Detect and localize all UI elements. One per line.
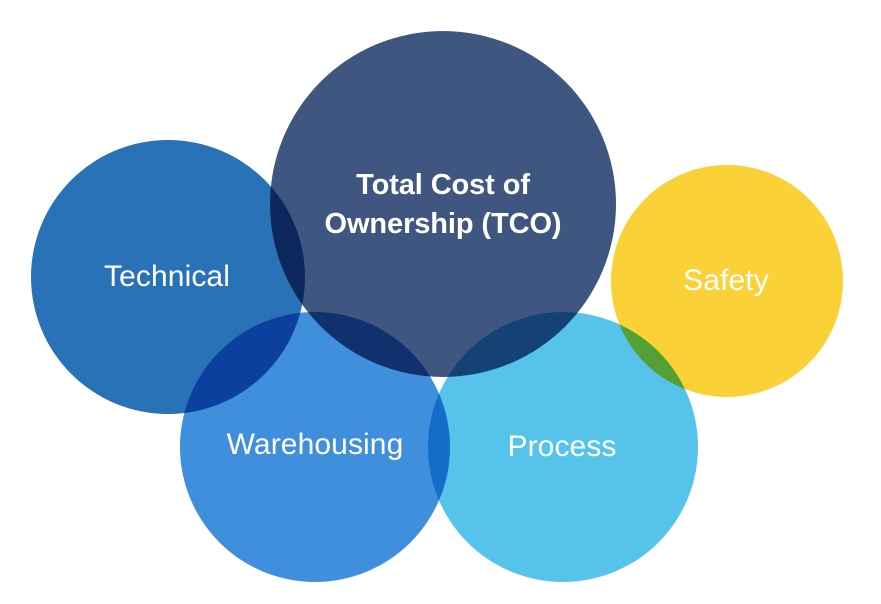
venn-label-process: Process [447, 428, 677, 466]
venn-diagram: Total Cost of Ownership (TCO) Technical … [0, 0, 881, 604]
venn-label-tco: Total Cost of Ownership (TCO) [278, 166, 608, 244]
venn-label-technical: Technical [37, 258, 297, 296]
venn-label-warehousing: Warehousing [175, 426, 455, 464]
venn-circles-canvas [0, 0, 881, 604]
venn-label-safety: Safety [616, 262, 836, 300]
venn-circle-group [31, 31, 843, 582]
